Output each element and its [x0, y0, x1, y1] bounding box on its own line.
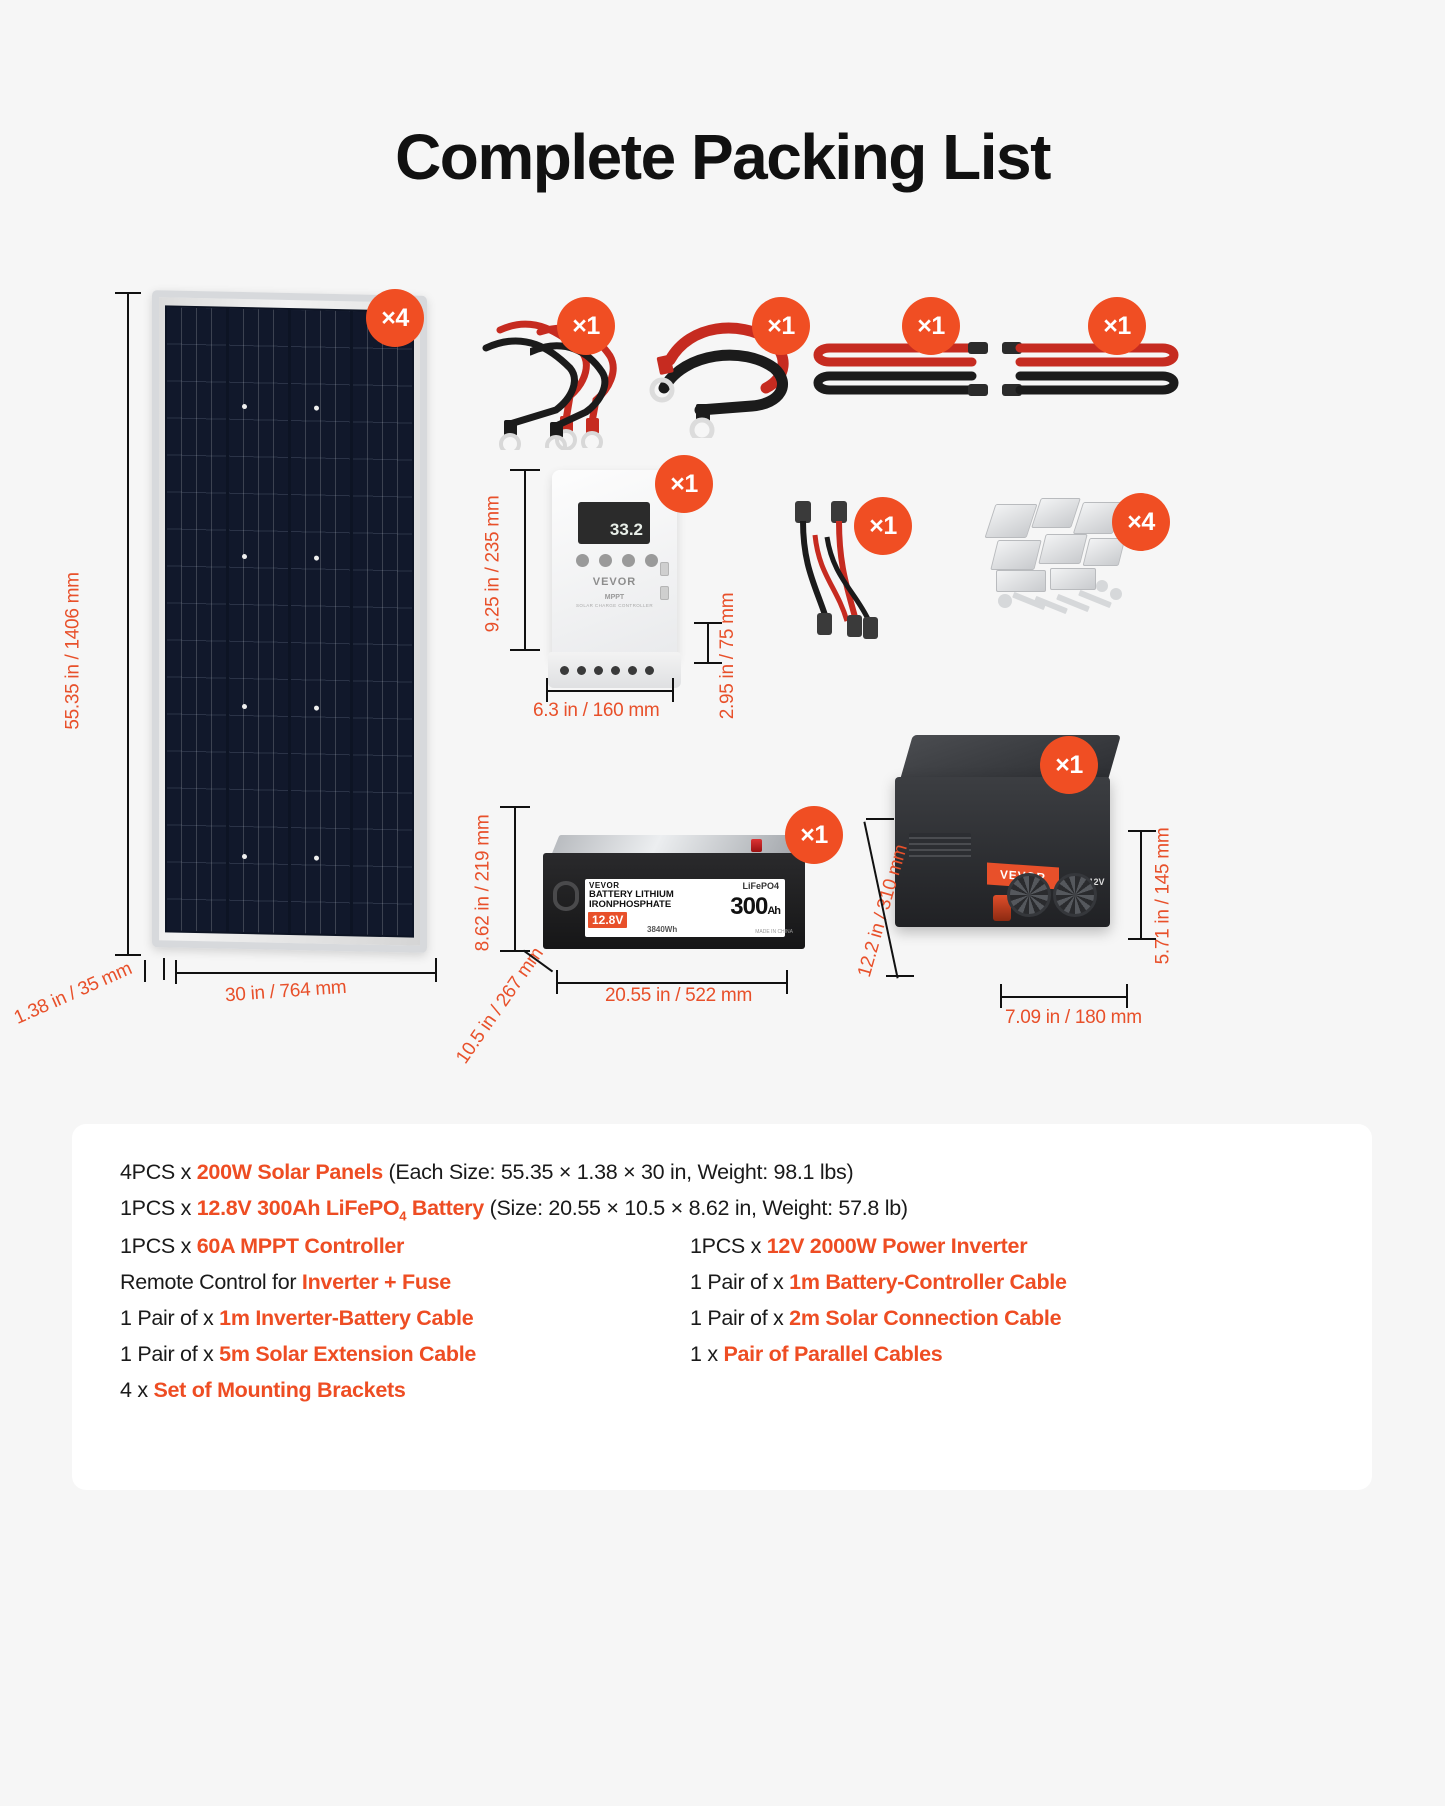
- tick: [1128, 830, 1156, 832]
- tick: [672, 678, 674, 702]
- packing-list-infographic: Complete Packing List 55.35 in / 1406 mm…: [0, 0, 1445, 1806]
- list-item-prefix: 1 Pair of x: [120, 1306, 219, 1330]
- badge-solar-panel-qty: ×4: [366, 289, 424, 347]
- list-col: 1PCS x 60A MPPT Controller: [120, 1234, 690, 1259]
- list-col: 1PCS x 12.8V 300Ah LiFePO4 Battery (Size…: [120, 1196, 1260, 1223]
- dim-panel-width: 30 in / 764 mm: [224, 977, 347, 1007]
- list-item-prefix: 4 x: [120, 1378, 153, 1402]
- list-col: 1PCS x 12V 2000W Power Inverter: [690, 1234, 1260, 1259]
- controller-buttons: [576, 554, 658, 567]
- list-col: 1 Pair of x 2m Solar Connection Cable: [690, 1306, 1260, 1331]
- list-item: Remote Control for Inverter + Fuse: [120, 1270, 690, 1295]
- battery-handle: [553, 881, 579, 911]
- mppt-width-line: [546, 690, 674, 692]
- tick: [886, 975, 914, 977]
- list-col: [690, 1378, 1260, 1403]
- controller-brand: VEVOR: [552, 576, 677, 588]
- tick: [115, 292, 141, 294]
- terminal: [645, 666, 654, 675]
- list-item-prefix: 1 Pair of x: [120, 1342, 219, 1366]
- tick: [1128, 938, 1156, 940]
- tick: [500, 806, 530, 808]
- solar-panel-cells: [165, 305, 414, 937]
- list-row: Remote Control for Inverter + Fuse 1 Pai…: [120, 1270, 1342, 1295]
- list-item: 1PCS x 12V 2000W Power Inverter: [690, 1234, 1260, 1259]
- tick: [510, 649, 540, 651]
- list-item-prefix: 1 Pair of x: [690, 1270, 789, 1294]
- controller-terminals: [560, 666, 654, 675]
- battery-capacity: 300Ah: [730, 893, 780, 921]
- mppt-depth-line: [707, 622, 709, 664]
- inverter-fan: [1053, 873, 1097, 917]
- battery-terminal-positive: [751, 839, 762, 852]
- list-item-highlight: Set of Mounting Brackets: [153, 1378, 405, 1402]
- list-item-highlight: 200W Solar Panels: [197, 1160, 383, 1184]
- cell-column: [353, 311, 412, 935]
- terminal: [628, 666, 637, 675]
- list-item-highlight: 60A MPPT Controller: [197, 1234, 404, 1258]
- list-item-highlight: 12V 2000W Power Inverter: [767, 1234, 1028, 1258]
- list-item: 1 Pair of x 2m Solar Connection Cable: [690, 1306, 1260, 1331]
- cell-column: [291, 310, 350, 934]
- list-item-highlight: 1m Inverter-Battery Cable: [219, 1306, 473, 1330]
- list-item: 1 Pair of x 1m Inverter-Battery Cable: [120, 1306, 690, 1331]
- terminal: [560, 666, 569, 675]
- tick: [694, 662, 722, 664]
- badge-solar-extension-cable-qty: ×1: [902, 297, 960, 355]
- controller-display-value: 33.2: [610, 520, 643, 540]
- usb-port-icon: [660, 586, 669, 600]
- list-item-highlight: 2m Solar Connection Cable: [789, 1306, 1061, 1330]
- tick: [694, 622, 722, 624]
- list-col: 4PCS x 200W Solar Panels (Each Size: 55.…: [120, 1160, 1260, 1185]
- dim-mppt-depth: 2.95 in / 75 mm: [717, 593, 739, 719]
- dim-mppt-width: 6.3 in / 160 mm: [533, 700, 659, 722]
- list-col: Remote Control for Inverter + Fuse: [120, 1270, 690, 1295]
- dim-inverter-width: 7.09 in / 180 mm: [1005, 1007, 1142, 1029]
- battery-origin: MADE IN CHINA: [755, 929, 793, 935]
- list-item-highlight: 5m Solar Extension Cable: [219, 1342, 476, 1366]
- list-item-prefix: 1PCS x: [120, 1196, 197, 1220]
- list-item-highlight: Inverter + Fuse: [302, 1270, 451, 1294]
- list-item-prefix: 1 x: [690, 1342, 723, 1366]
- list-row: 1 Pair of x 5m Solar Extension Cable 1 x…: [120, 1342, 1342, 1367]
- mppt-height-line: [524, 469, 526, 651]
- controller-button[interactable]: [622, 554, 635, 567]
- controller-display: 33.2: [578, 502, 650, 544]
- list-item-highlight: 1m Battery-Controller Cable: [789, 1270, 1066, 1294]
- tick: [786, 970, 788, 994]
- controller-terminal-block: [548, 652, 681, 688]
- battery-body: VEVOR BATTERY LITHIUM IRONPHOSPHATE 12.8…: [543, 853, 805, 949]
- chem-subscript: 4: [399, 1208, 406, 1223]
- battery-height-line: [514, 806, 516, 952]
- tick: [866, 818, 894, 820]
- badge-parallel-cable-qty: ×1: [854, 497, 912, 555]
- battery-capacity-value: 300: [730, 893, 767, 920]
- list-col: 1 Pair of x 1m Inverter-Battery Cable: [120, 1306, 690, 1331]
- list-item-prefix: 4PCS x: [120, 1160, 197, 1184]
- tick: [1000, 984, 1002, 1008]
- cell-column: [229, 309, 288, 933]
- mounting-brackets-image: [990, 498, 1130, 638]
- list-col: 4 x Set of Mounting Brackets: [120, 1378, 690, 1403]
- battery-energy: 3840Wh: [647, 925, 677, 934]
- tick: [435, 958, 437, 982]
- list-item: 4PCS x 200W Solar Panels (Each Size: 55.…: [120, 1160, 1260, 1185]
- list-item: 1 x Pair of Parallel Cables: [690, 1342, 1260, 1367]
- usb-port-icon: [660, 562, 669, 576]
- list-item-suffix: (Size: 20.55 × 10.5 × 8.62 in, Weight: 5…: [484, 1196, 908, 1220]
- badge-solar-connection-cable-qty: ×1: [1088, 297, 1146, 355]
- dim-panel-thickness: 1.38 in / 35 mm: [11, 958, 135, 1030]
- panel-height-line: [127, 292, 129, 956]
- inverter-body: VEVOR DC 12V: [895, 777, 1110, 927]
- badge-mounting-brackets-qty: ×4: [1112, 493, 1170, 551]
- controller-subtitle: SOLAR CHARGE CONTROLLER: [552, 603, 677, 608]
- controller-button[interactable]: [576, 554, 589, 567]
- tick: [115, 954, 141, 956]
- list-row: 4 x Set of Mounting Brackets: [120, 1378, 1342, 1403]
- dim-battery-height: 8.62 in / 219 mm: [472, 815, 494, 952]
- tick: [510, 469, 540, 471]
- list-item-suffix: (Each Size: 55.35 × 1.38 × 30 in, Weight…: [383, 1160, 853, 1184]
- list-col: 1 x Pair of Parallel Cables: [690, 1342, 1260, 1367]
- controller-type: MPPT: [552, 594, 677, 601]
- tick: [163, 958, 165, 980]
- dim-battery-width: 20.55 in / 522 mm: [605, 985, 752, 1007]
- list-row: 1 Pair of x 1m Inverter-Battery Cable 1 …: [120, 1306, 1342, 1331]
- list-row: 4PCS x 200W Solar Panels (Each Size: 55.…: [120, 1160, 1342, 1185]
- dim-inverter-height: 5.71 in / 145 mm: [1152, 828, 1174, 965]
- tick: [556, 970, 558, 994]
- list-item-prefix: 1PCS x: [120, 1234, 197, 1258]
- tick: [144, 960, 146, 982]
- page-title: Complete Packing List: [0, 120, 1445, 194]
- inverter-height-line: [1140, 830, 1142, 940]
- list-item: 1PCS x 12.8V 300Ah LiFePO4 Battery (Size…: [120, 1196, 1260, 1223]
- panel-width-line: [175, 972, 437, 974]
- inverter-fan: [1007, 873, 1051, 917]
- packing-list: 4PCS x 200W Solar Panels (Each Size: 55.…: [120, 1160, 1342, 1414]
- battery-chemistry: LiFePO4: [742, 881, 779, 891]
- inverter-vents: [909, 833, 971, 861]
- list-item: 1 Pair of x 5m Solar Extension Cable: [120, 1342, 690, 1367]
- battery-voltage: 12.8V: [588, 912, 627, 928]
- battery-capacity-unit: Ah: [767, 905, 780, 917]
- list-item-highlight: Pair of Parallel Cables: [723, 1342, 942, 1366]
- solar-extension-cable-image: [812, 330, 992, 410]
- list-item-highlight: 12.8V 300Ah LiFePO4 Battery: [197, 1196, 484, 1220]
- list-item: 1PCS x 60A MPPT Controller: [120, 1234, 690, 1259]
- tick: [1126, 984, 1128, 1008]
- terminal: [611, 666, 620, 675]
- badge-inverter-qty: ×1: [1040, 736, 1098, 794]
- badge-battery-qty: ×1: [785, 806, 843, 864]
- badge-mppt-controller-qty: ×1: [655, 455, 713, 513]
- list-item-prefix: 1 Pair of x: [690, 1306, 789, 1330]
- battery-width-line: [556, 982, 788, 984]
- controller-button[interactable]: [645, 554, 658, 567]
- cell-column: [167, 307, 226, 931]
- list-item-prefix: 1PCS x: [690, 1234, 767, 1258]
- list-col: 1 Pair of x 5m Solar Extension Cable: [120, 1342, 690, 1367]
- tick: [546, 678, 548, 702]
- list-row: 1PCS x 60A MPPT Controller 1PCS x 12V 20…: [120, 1234, 1342, 1259]
- list-item: 1 Pair of x 1m Battery-Controller Cable: [690, 1270, 1260, 1295]
- dim-battery-depth: 10.5 in / 267 mm: [452, 944, 548, 1069]
- list-col: 1 Pair of x 1m Battery-Controller Cable: [690, 1270, 1260, 1295]
- dim-panel-height: 55.35 in / 1406 mm: [63, 572, 85, 729]
- tick: [175, 960, 177, 984]
- packing-list-card: 4PCS x 200W Solar Panels (Each Size: 55.…: [72, 1124, 1372, 1490]
- solar-connection-cable-image: [1000, 330, 1180, 410]
- list-item-prefix: Remote Control for: [120, 1270, 302, 1294]
- list-row: 1PCS x 12.8V 300Ah LiFePO4 Battery (Size…: [120, 1196, 1342, 1223]
- dim-mppt-height: 9.25 in / 235 mm: [482, 496, 504, 633]
- solar-panel-image: [152, 290, 427, 953]
- inverter-width-line: [1000, 996, 1128, 998]
- terminal: [577, 666, 586, 675]
- controller-button[interactable]: [599, 554, 612, 567]
- battery-image: VEVOR BATTERY LITHIUM IRONPHOSPHATE 12.8…: [543, 835, 811, 953]
- badge-short-cable-pair-qty: ×1: [557, 297, 615, 355]
- terminal: [594, 666, 603, 675]
- badge-battery-cable-qty: ×1: [752, 297, 810, 355]
- list-item: 4 x Set of Mounting Brackets: [120, 1378, 690, 1403]
